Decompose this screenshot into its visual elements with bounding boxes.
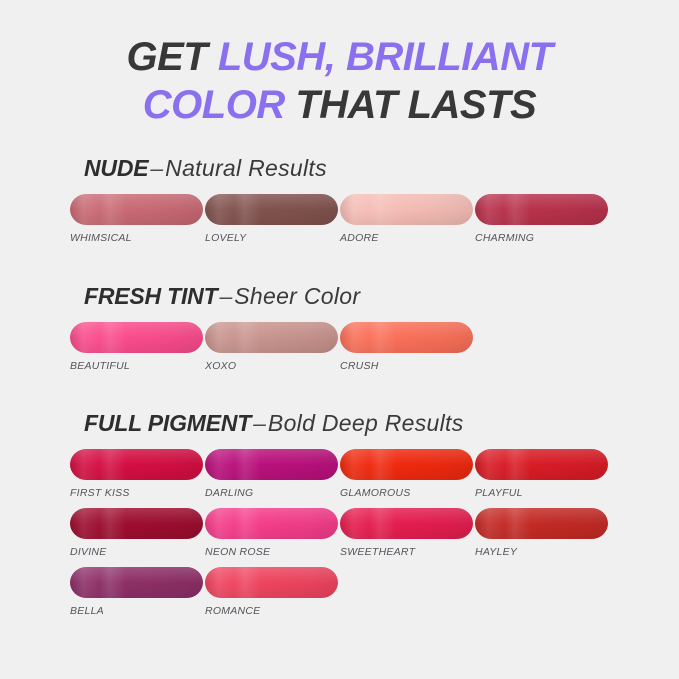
swatch-row: BEAUTIFUL XOXO CRUSH xyxy=(70,322,670,372)
swatch-cell[interactable]: CHARMING xyxy=(475,194,610,244)
swatch-cell[interactable]: ADORE xyxy=(340,194,475,244)
section-nude: NUDE–Natural Results WHIMSICAL LOVELY AD… xyxy=(70,155,670,244)
swatch-row: WHIMSICAL LOVELY ADORE CHARMING xyxy=(70,194,670,244)
shade-swatch[interactable] xyxy=(205,194,338,225)
swatch-cell[interactable]: FIRST KISS xyxy=(70,449,205,499)
shade-swatch[interactable] xyxy=(340,322,473,353)
shade-swatch[interactable] xyxy=(340,449,473,480)
section-nude-heading: NUDE–Natural Results xyxy=(84,155,670,181)
shade-swatch[interactable] xyxy=(70,449,203,480)
headline-line-2-accent: COLOR xyxy=(143,83,296,127)
shade-label: XOXO xyxy=(205,360,340,372)
shade-label: HAYLEY xyxy=(475,546,610,558)
shade-swatch[interactable] xyxy=(340,508,473,539)
shade-label: PLAYFUL xyxy=(475,487,610,499)
shade-label: WHIMSICAL xyxy=(70,232,205,244)
headline-line-1-accent: LUSH, BRILLIANT xyxy=(218,35,553,79)
shade-label: DARLING xyxy=(205,487,340,499)
shade-label: GLAMOROUS xyxy=(340,487,475,499)
swatch-cell[interactable]: BELLA xyxy=(70,567,205,617)
swatch-cell[interactable]: PLAYFUL xyxy=(475,449,610,499)
swatch-cell[interactable]: CRUSH xyxy=(340,322,475,372)
swatch-cell[interactable]: DIVINE xyxy=(70,508,205,558)
section-fresh-tint: FRESH TINT–Sheer Color BEAUTIFUL XOXO CR… xyxy=(70,283,670,372)
section-nude-subtitle: Natural Results xyxy=(165,155,327,181)
shade-label: BELLA xyxy=(70,605,205,617)
shade-swatch[interactable] xyxy=(475,449,608,480)
shade-swatch[interactable] xyxy=(70,508,203,539)
shade-swatch[interactable] xyxy=(205,508,338,539)
section-nude-dash: – xyxy=(148,155,165,181)
headline-line-1: GET LUSH, BRILLIANT xyxy=(0,33,679,81)
section-fresh-tint-title: FRESH TINT xyxy=(84,283,217,309)
swatch-cell[interactable]: HAYLEY xyxy=(475,508,610,558)
headline-line-1-dark: GET xyxy=(126,35,217,79)
swatch-row: FIRST KISS DARLING GLAMOROUS PLAYFUL xyxy=(70,449,670,499)
shade-swatch[interactable] xyxy=(205,567,338,598)
swatch-row: BELLA ROMANCE xyxy=(70,567,670,617)
shade-swatch[interactable] xyxy=(70,322,203,353)
section-nude-title: NUDE xyxy=(84,155,148,181)
swatch-cell[interactable]: GLAMOROUS xyxy=(340,449,475,499)
swatch-cell[interactable]: DARLING xyxy=(205,449,340,499)
headline-line-2: COLOR THAT LASTS xyxy=(0,81,679,129)
shade-swatch[interactable] xyxy=(340,194,473,225)
swatch-row: DIVINE NEON ROSE SWEETHEART HAYLEY xyxy=(70,508,670,558)
shade-swatch[interactable] xyxy=(475,194,608,225)
shade-label: SWEETHEART xyxy=(340,546,475,558)
section-fresh-tint-heading: FRESH TINT–Sheer Color xyxy=(84,283,670,309)
section-full-pigment: FULL PIGMENT–Bold Deep Results FIRST KIS… xyxy=(70,410,670,617)
shade-label: DIVINE xyxy=(70,546,205,558)
swatch-cell[interactable]: XOXO xyxy=(205,322,340,372)
section-full-pigment-heading: FULL PIGMENT–Bold Deep Results xyxy=(84,410,670,436)
swatch-cell[interactable]: ROMANCE xyxy=(205,567,340,617)
shade-label: LOVELY xyxy=(205,232,340,244)
section-fresh-tint-dash: – xyxy=(217,283,234,309)
shade-label: CHARMING xyxy=(475,232,610,244)
shade-label: CRUSH xyxy=(340,360,475,372)
section-full-pigment-subtitle: Bold Deep Results xyxy=(268,410,464,436)
swatch-cell[interactable]: SWEETHEART xyxy=(340,508,475,558)
shade-swatch[interactable] xyxy=(475,508,608,539)
page-headline: GET LUSH, BRILLIANT COLOR THAT LASTS xyxy=(0,33,679,129)
shade-label: ROMANCE xyxy=(205,605,340,617)
headline-line-2-dark: THAT LASTS xyxy=(295,83,536,127)
product-shade-chart: GET LUSH, BRILLIANT COLOR THAT LASTS NUD… xyxy=(0,0,679,679)
swatch-cell[interactable]: WHIMSICAL xyxy=(70,194,205,244)
shade-swatch[interactable] xyxy=(205,449,338,480)
shade-label: ADORE xyxy=(340,232,475,244)
section-fresh-tint-subtitle: Sheer Color xyxy=(234,283,360,309)
shade-label: BEAUTIFUL xyxy=(70,360,205,372)
shade-swatch[interactable] xyxy=(205,322,338,353)
swatch-cell[interactable]: LOVELY xyxy=(205,194,340,244)
shade-swatch[interactable] xyxy=(70,194,203,225)
swatch-cell[interactable]: BEAUTIFUL xyxy=(70,322,205,372)
swatch-cell[interactable]: NEON ROSE xyxy=(205,508,340,558)
shade-label: FIRST KISS xyxy=(70,487,205,499)
shade-swatch[interactable] xyxy=(70,567,203,598)
section-full-pigment-title: FULL PIGMENT xyxy=(84,410,251,436)
shade-label: NEON ROSE xyxy=(205,546,340,558)
section-full-pigment-dash: – xyxy=(251,410,268,436)
